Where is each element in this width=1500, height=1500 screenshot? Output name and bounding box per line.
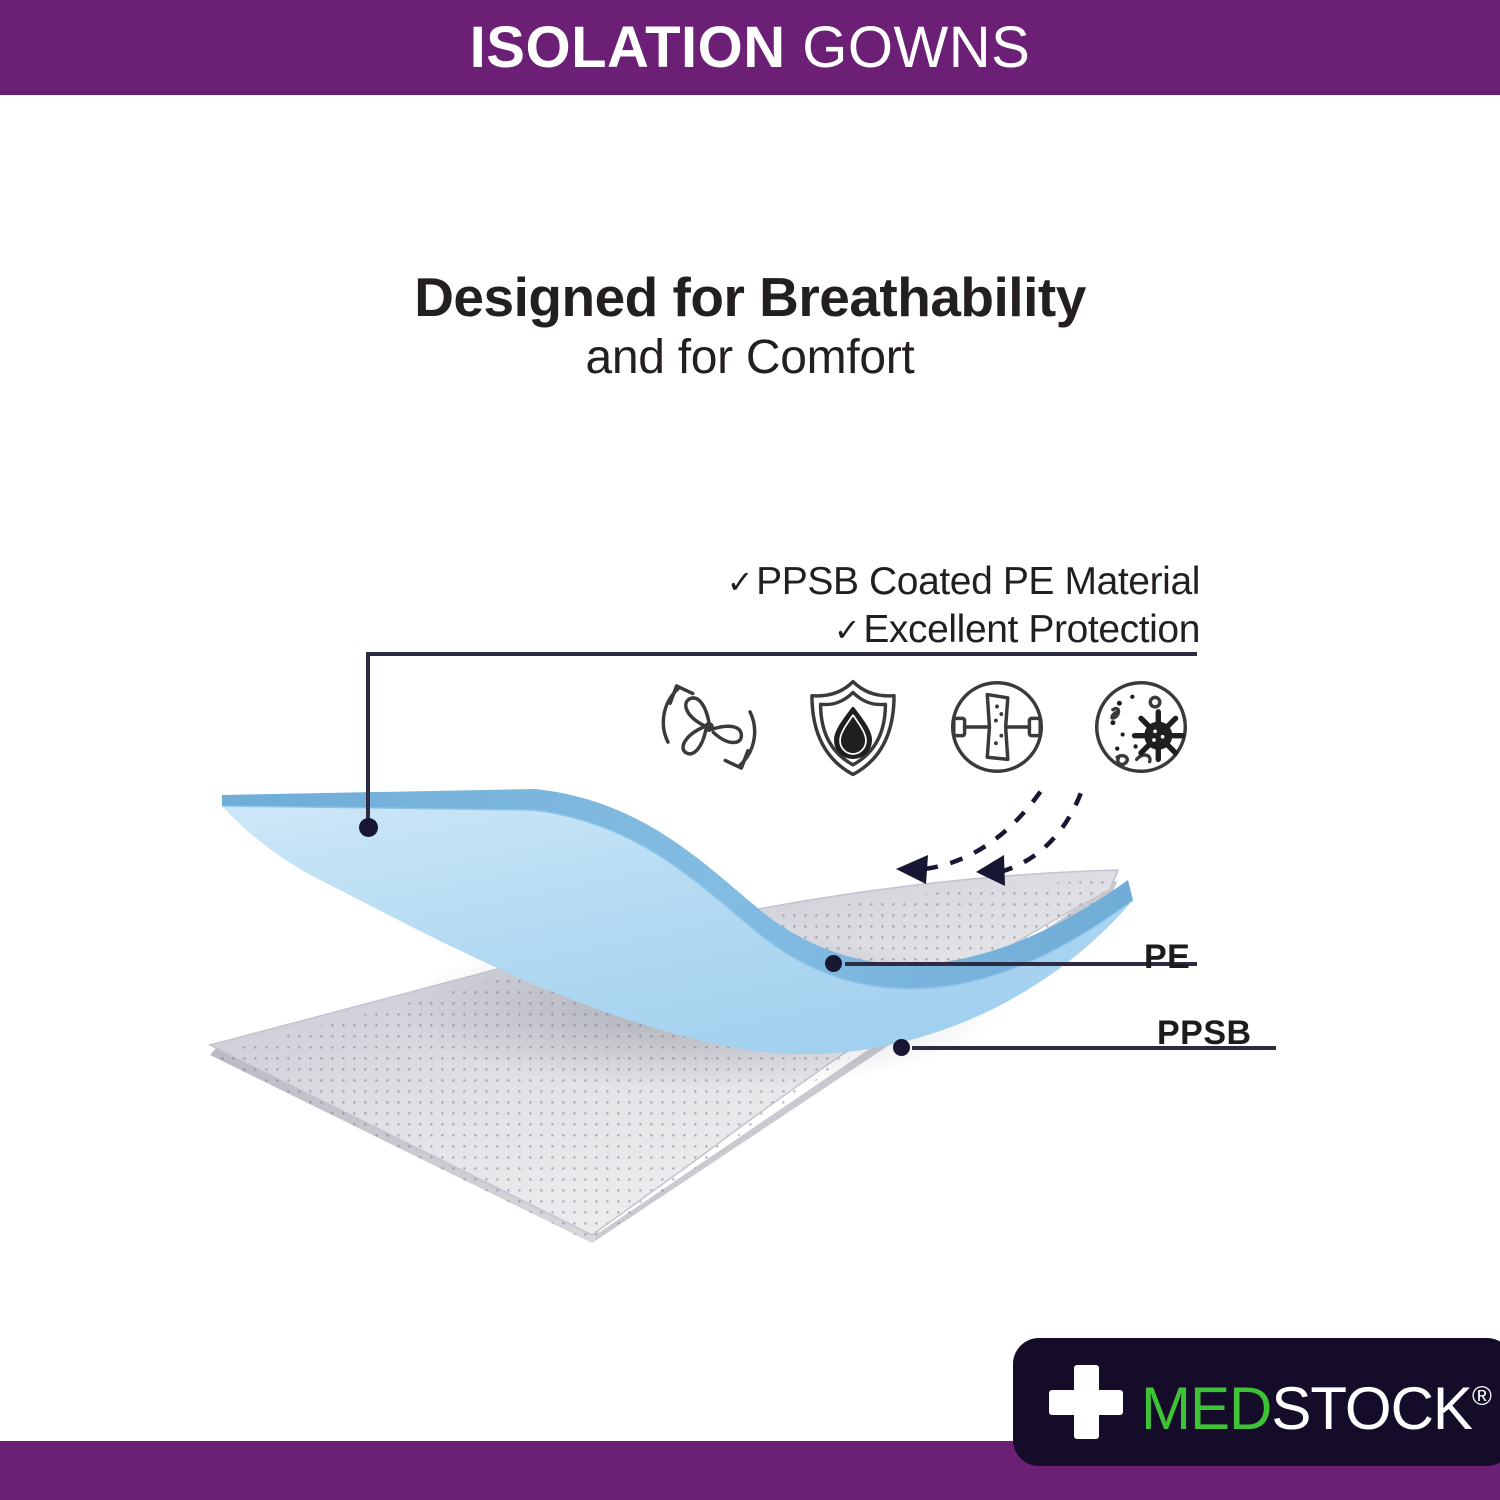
- banner-title: ISOLATION GOWNS: [0, 0, 1500, 95]
- poster-canvas: ISOLATION GOWNS Designed for Breathabili…: [0, 0, 1500, 1500]
- ppsb-layer-label: PPSB: [1157, 1014, 1252, 1053]
- logo-stock-text: STOCK: [1271, 1375, 1472, 1442]
- feature-list: ✓PPSB Coated PE Material ✓Excellent Prot…: [600, 558, 1200, 654]
- pe-leader-dot: [825, 955, 842, 972]
- ppsb-leader-dot: [893, 1039, 910, 1056]
- pe-top-leader-dot: [359, 818, 378, 837]
- banner-title-bold: ISOLATION: [470, 15, 786, 80]
- feature-label-1: Excellent Protection: [863, 608, 1200, 651]
- pe-top-leader-line: [366, 652, 370, 830]
- feature-item-0: ✓PPSB Coated PE Material: [600, 558, 1200, 606]
- banner-title-light: GOWNS: [786, 15, 1031, 80]
- ppsb-sheet: [200, 860, 1140, 1260]
- headline-line-2: and for Comfort: [0, 328, 1500, 388]
- check-icon: ✓: [834, 607, 860, 654]
- anti-bacteria-icon: [1087, 673, 1195, 781]
- feature-underline: [366, 652, 1197, 656]
- arrow-head-left: [896, 855, 928, 884]
- arrow-head-right: [976, 855, 1005, 886]
- logo-wordmark: MEDSTOCK®: [1141, 1366, 1491, 1439]
- tensile-strength-icon: [943, 673, 1051, 781]
- feature-label-0: PPSB Coated PE Material: [756, 560, 1200, 603]
- virus-body: [1135, 712, 1183, 760]
- check-icon: ✓: [727, 559, 753, 606]
- airflow-arrows: [925, 785, 1082, 872]
- headline-block: Designed for Breathability and for Comfo…: [0, 266, 1500, 388]
- waterproof-shield-icon: [799, 673, 907, 781]
- medstock-logo: MEDSTOCK®: [1013, 1338, 1500, 1466]
- registered-trademark-icon: ®: [1472, 1381, 1491, 1411]
- feature-icon-row: [655, 672, 1195, 782]
- headline-line-1: Designed for Breathability: [0, 266, 1500, 328]
- breathable-fan-icon: [655, 673, 763, 781]
- feature-item-1: ✓Excellent Protection: [600, 606, 1200, 654]
- pe-layer-label: PE: [1144, 938, 1190, 977]
- medical-cross-icon: [1049, 1365, 1123, 1439]
- logo-med-text: MED: [1141, 1375, 1271, 1442]
